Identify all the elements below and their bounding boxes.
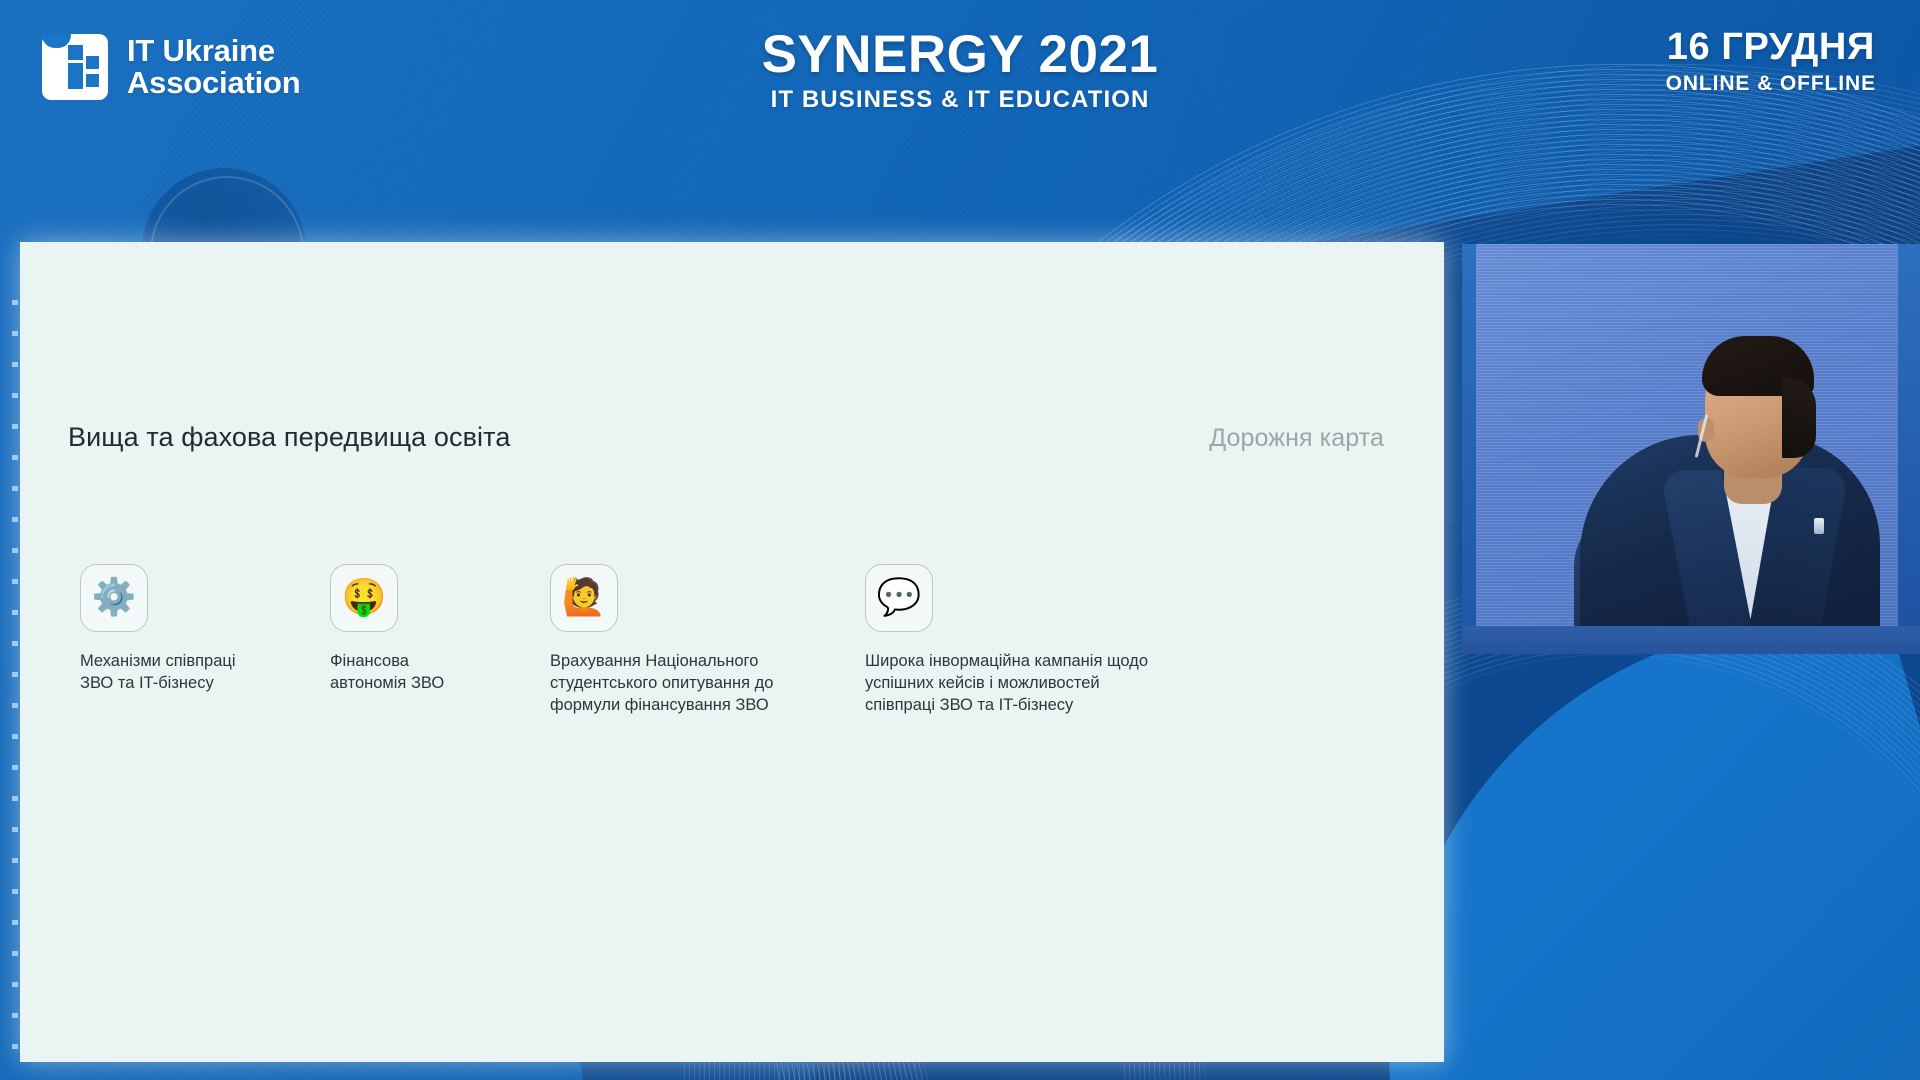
gear-icon: ⚙️ — [80, 564, 148, 632]
speaker-hair-side — [1782, 378, 1816, 458]
video-bottom-band — [1462, 626, 1920, 654]
brand-logo-text: IT Ukraine Association — [127, 35, 301, 98]
brand-logo-line1: IT Ukraine — [127, 35, 301, 67]
slide-card-label: Широка інвормаційна кампанія щодоуспішни… — [865, 651, 1205, 717]
slide-card-label: Фінансоваавтономія ЗВО — [330, 651, 550, 695]
slide-card-label-line: Механізми співпраці — [80, 651, 330, 673]
video-left-band — [1462, 244, 1476, 654]
slide-card-label-line: ЗВО та IT-бізнесу — [80, 673, 330, 695]
slide-card-label: Механізми співпраціЗВО та IT-бізнесу — [80, 651, 330, 695]
event-date-block: 16 ГРУДНЯ ONLINE & OFFLINE — [1666, 28, 1876, 96]
slide-card-label-line: формули фінансування ЗВО — [550, 695, 865, 717]
brand-logo-line2: Association — [127, 67, 301, 99]
money-mouth-face-icon: 🤑 — [330, 564, 398, 632]
slide-card-label-line: Фінансова — [330, 651, 550, 673]
slide-cards-row: ⚙️Механізми співпраціЗВО та IT-бізнесу🤑Ф… — [80, 564, 1404, 717]
speaker-lapel-pin — [1814, 518, 1824, 534]
slide-card-label-line: співпраці ЗВО та IT-бізнесу — [865, 695, 1205, 717]
left-dotted-rail — [12, 300, 18, 1060]
slide-card: 🙋Врахування Національногостудентського о… — [550, 564, 865, 717]
slide-title: Вища та фахова передвища освіта — [68, 422, 510, 453]
raising-hand-person-icon: 🙋 — [550, 564, 618, 632]
brand-logo[interactable]: IT Ukraine Association — [42, 34, 301, 100]
video-right-band — [1898, 244, 1920, 654]
event-date-day: 16 ГРУДНЯ — [1666, 28, 1876, 66]
slide-card: ⚙️Механізми співпраціЗВО та IT-бізнесу — [80, 564, 330, 695]
slide-card-label: Врахування Національногостудентського оп… — [550, 651, 865, 717]
slide-card: 💬Широка інвормаційна кампанія щодоуспішн… — [865, 564, 1205, 717]
slide-card: 🤑Фінансоваавтономія ЗВО — [330, 564, 550, 695]
slide-card-label-line: студентського опитування до — [550, 673, 865, 695]
slide-kicker-label: Дорожня карта — [1209, 424, 1384, 453]
slide-card-label-line: Врахування Національного — [550, 651, 865, 673]
slide-card-label-line: успішних кейсів і можливостей — [865, 673, 1205, 695]
event-date-mode: ONLINE & OFFLINE — [1666, 72, 1876, 96]
slide-card-label-line: Широка інвормаційна кампанія щодо — [865, 651, 1205, 673]
event-header: IT Ukraine Association SYNERGY 2021 IT B… — [0, 0, 1920, 146]
slide-panel: Вища та фахова передвища освіта Дорожня … — [20, 242, 1444, 1062]
slide-card-label-line: автономія ЗВО — [330, 673, 550, 695]
it-ukraine-logo-icon — [42, 34, 108, 100]
speaker-video-feed[interactable] — [1462, 244, 1920, 654]
speech-balloon-icon: 💬 — [865, 564, 933, 632]
slide-header-row: Вища та фахова передвища освіта Дорожня … — [20, 422, 1444, 468]
